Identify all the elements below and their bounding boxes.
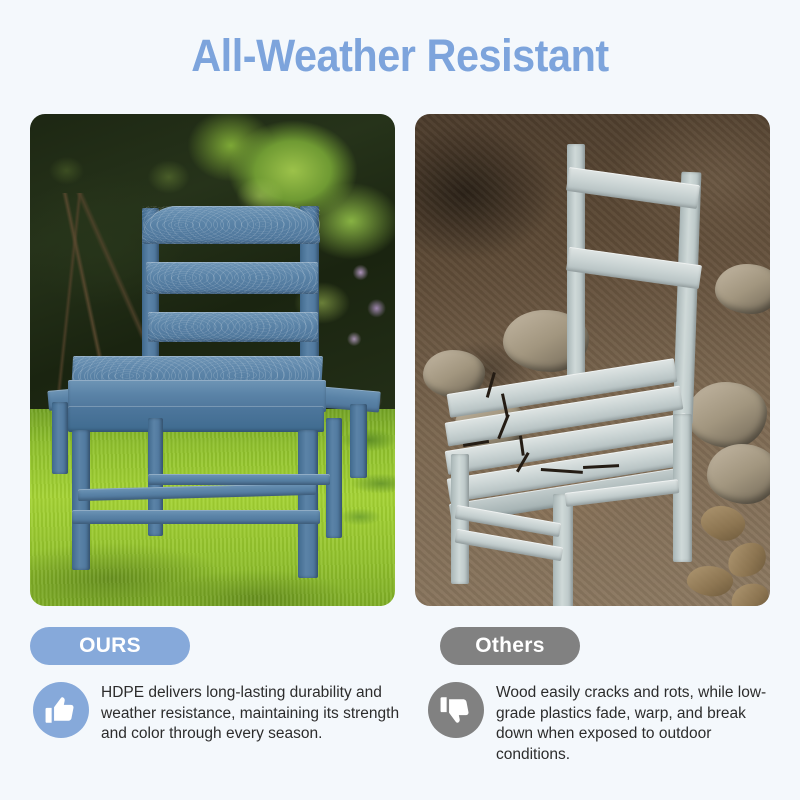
thumbs-up-icon bbox=[33, 682, 89, 738]
others-badge: Others bbox=[440, 627, 580, 665]
ours-badge-label: OURS bbox=[79, 634, 141, 658]
page-title: All-Weather Resistant bbox=[32, 30, 768, 82]
rock bbox=[687, 382, 767, 448]
others-scene bbox=[415, 114, 770, 606]
ours-photo bbox=[30, 114, 395, 606]
others-drawback-row: Wood easily cracks and rots, while low-g… bbox=[428, 682, 778, 765]
others-badge-label: Others bbox=[475, 634, 545, 658]
ours-badge: OURS bbox=[30, 627, 190, 665]
ours-benefit-text: HDPE delivers long-lasting durability an… bbox=[101, 682, 403, 745]
ours-scene bbox=[30, 114, 395, 606]
others-drawback-text: Wood easily cracks and rots, while low-g… bbox=[496, 682, 778, 765]
ours-benefit-row: HDPE delivers long-lasting durability an… bbox=[33, 682, 403, 745]
thumbs-down-icon bbox=[428, 682, 484, 738]
others-photo bbox=[415, 114, 770, 606]
